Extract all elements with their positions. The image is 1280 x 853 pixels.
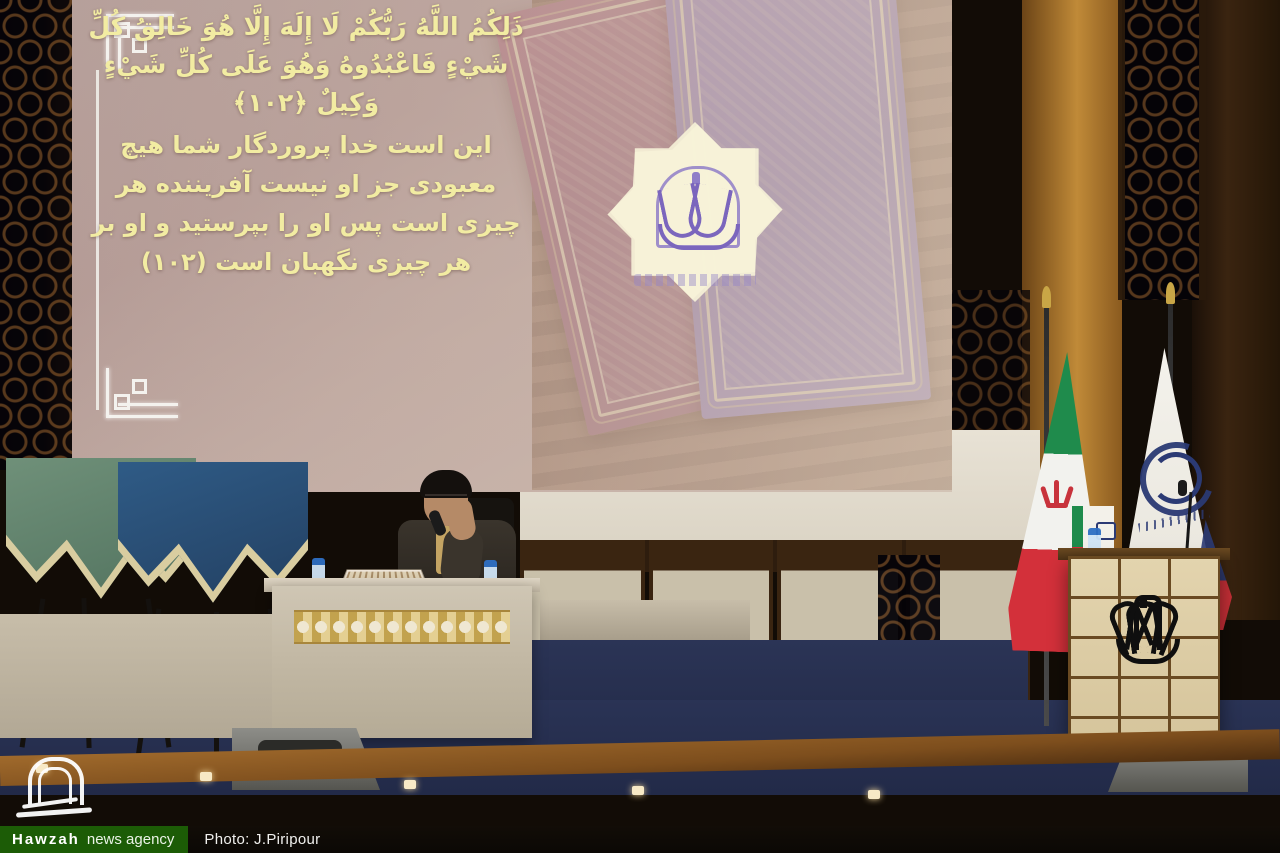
girih-lattice-panel-top-right [1118,0,1206,300]
conference-hall-photo: ذَلِكُمُ اللَّهُ رَبُّكُمْ لَا إِلَهَ إِ… [0,0,1280,853]
institution-logo-inner-icon [1150,452,1202,504]
slide-corner-ornament-bottom-left [88,360,174,430]
flag-finial-right [1166,282,1175,304]
hawzah-logo-watermark [14,757,96,821]
desk-extension [540,600,750,640]
verse-arabic-text: ذَلِكُمُ اللَّهُ رَبُّكُمْ لَا إِلَهَ إِ… [86,8,526,122]
stage-led-light [404,780,416,789]
desk-gold-ornament-band [294,610,510,644]
agency-label: news agency [87,831,175,848]
eight-pointed-star-quran-emblem [610,122,780,302]
stage-led-light [632,786,644,795]
reciter-desk [272,586,532,738]
stage-led-light [200,772,212,781]
iranian-institution-emblem [1108,594,1180,666]
slide-verse-block: ذَلِكُمُ اللَّهُ رَبُّكُمْ لَا إِلَهَ إِ… [86,8,526,282]
agency-brand: Hawzah [12,831,80,848]
desk-left-side-panel [0,614,272,738]
emblem-script-text [634,274,756,286]
iran-flag-emblem-icon [1040,478,1074,508]
projection-screen: ذَلِكُمُ اللَّهُ رَبُّكُمْ لَا إِلَهَ إِ… [72,0,952,492]
open-book-emblem-icon [648,162,742,254]
photo-credit: Photo: J.Piripour [204,831,320,848]
verse-persian-text: این است خدا پروردگار شما هیچ معبودی جز ا… [86,126,526,282]
flag-finial-left [1042,286,1051,308]
stage-led-light [868,790,880,799]
microphone-head-icon [1178,480,1187,496]
caption-bar: Hawzah news agency Photo: J.Piripour [0,826,1280,853]
agency-badge: Hawzah news agency [0,826,188,853]
